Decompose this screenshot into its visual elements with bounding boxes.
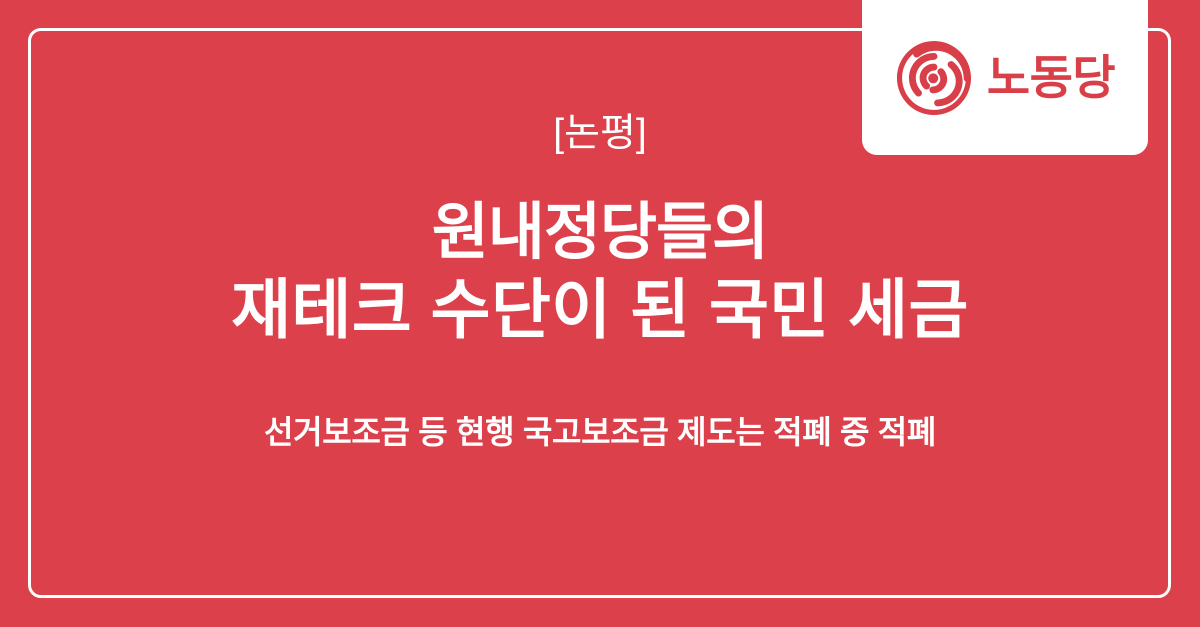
subheadline: 선거보조금 등 현행 국고보조금 제도는 적폐 중 적폐 (264, 412, 936, 454)
kicker-label: [논평] (553, 112, 646, 157)
commentary-card: 노동당 [논평] 원내정당들의 재테크 수단이 된 국민 세금 선거보조금 등 … (0, 0, 1200, 627)
headline-line-2: 재테크 수단이 된 국민 세금 (231, 270, 969, 349)
content-stack: [논평] 원내정당들의 재테크 수단이 된 국민 세금 선거보조금 등 현행 국… (0, 0, 1200, 627)
headline-line-1: 원내정당들의 (231, 195, 969, 271)
headline: 원내정당들의 재테크 수단이 된 국민 세금 (231, 195, 969, 350)
